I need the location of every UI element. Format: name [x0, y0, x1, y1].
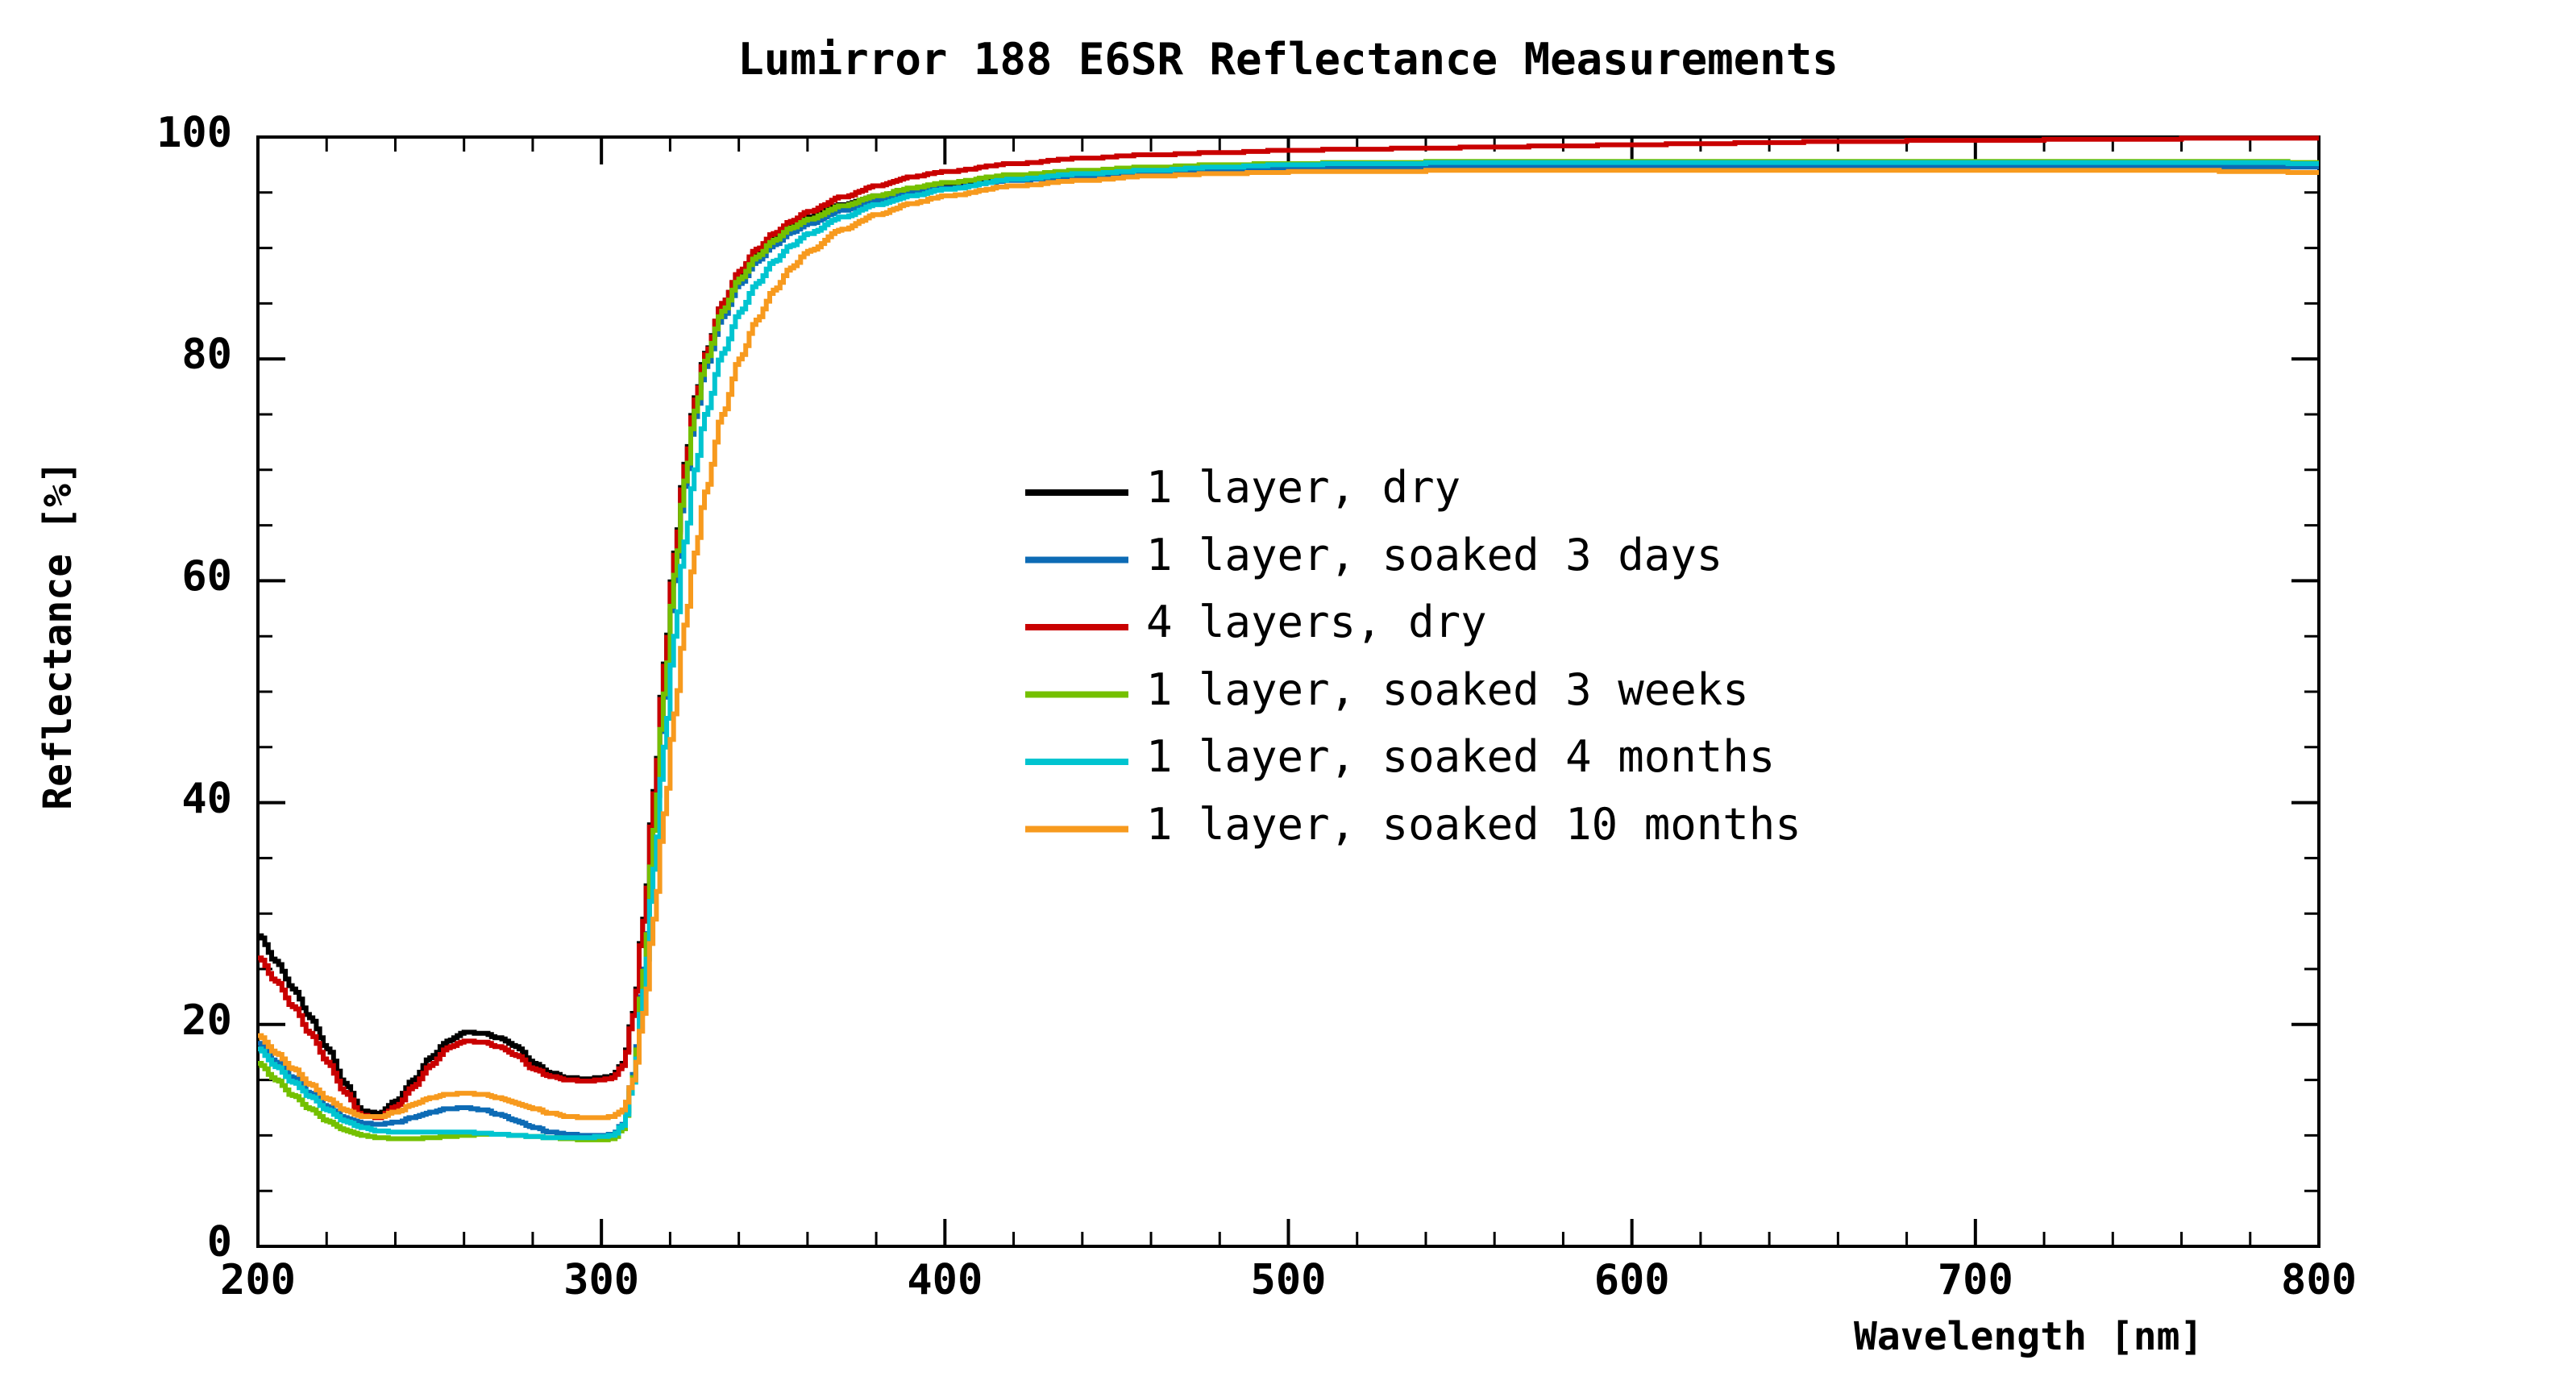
- series-line-1: [258, 167, 2319, 1135]
- chart-page: Lumirror 188 E6SR Reflectance Measuremen…: [0, 0, 2576, 1385]
- x-tick-label: 700: [1903, 1256, 2048, 1304]
- series-line-4: [258, 163, 2319, 1138]
- y-tick-label: 80: [55, 331, 232, 379]
- legend-item-label: 4 layers, dry: [1146, 597, 1487, 647]
- legend-item-label: 1 layer, soaked 3 days: [1146, 530, 1722, 580]
- legend-item-label: 1 layer, dry: [1146, 462, 1460, 513]
- legend-sample-lines: [1025, 493, 1128, 830]
- x-tick-label: 600: [1560, 1256, 1705, 1304]
- y-tick-label: 60: [55, 552, 232, 601]
- legend-item-label: 1 layer, soaked 10 months: [1146, 799, 1801, 850]
- legend-item-label: 1 layer, soaked 4 months: [1146, 731, 1775, 782]
- legend-item-label: 1 layer, soaked 3 weeks: [1146, 664, 1749, 715]
- x-tick-label: 500: [1216, 1256, 1361, 1304]
- y-tick-label: 100: [55, 109, 232, 157]
- y-tick-label: 20: [55, 996, 232, 1045]
- x-tick-label: 400: [872, 1256, 1017, 1304]
- x-tick-label: 300: [529, 1256, 674, 1304]
- y-tick-label: 0: [55, 1218, 232, 1266]
- series-line-3: [258, 161, 2319, 1140]
- x-tick-label: 800: [2246, 1256, 2391, 1304]
- y-tick-label: 40: [55, 775, 232, 823]
